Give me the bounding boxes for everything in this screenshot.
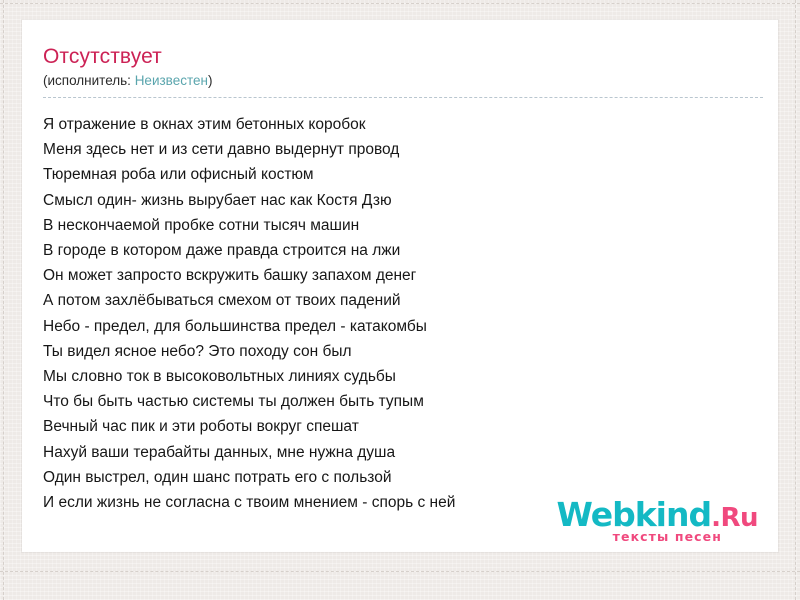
background-dashed-rule-bottom (0, 571, 800, 572)
lyric-line: Он может запросто вскружить башку запахо… (43, 263, 760, 288)
background-dashed-rule-top (0, 3, 800, 4)
lyric-line: Мы словно ток в высоковольтных линиях су… (43, 364, 760, 389)
lyric-line: Меня здесь нет и из сети давно выдернут … (43, 137, 760, 162)
artist-line: (исполнитель: Неизвестен) (43, 72, 763, 98)
webkind-logo[interactable]: Webkind.Ru тексты песен (556, 498, 758, 544)
background-dashed-rule-right (795, 0, 796, 600)
lyric-line: Тюремная роба или офисный костюм (43, 162, 760, 187)
lyric-line: В городе в котором даже правда строится … (43, 238, 760, 263)
lyric-line: Смысл один- жизнь вырубает нас как Костя… (43, 188, 760, 213)
artist-label: (исполнитель: (43, 73, 135, 88)
lyrics-text: Я отражение в окнах этим бетонных коробо… (43, 112, 760, 515)
card-inner: Отсутствует (исполнитель: Неизвестен) Я … (22, 20, 778, 552)
lyrics-content-card: Отсутствует (исполнитель: Неизвестен) Я … (22, 20, 778, 552)
lyric-line: Ты видел ясное небо? Это походу сон был (43, 339, 760, 364)
lyric-line: Я отражение в окнах этим бетонных коробо… (43, 112, 760, 137)
lyric-line: Небо - предел, для большинства предел - … (43, 314, 760, 339)
lyric-line: А потом захлёбываться смехом от твоих па… (43, 288, 760, 313)
song-title: Отсутствует (43, 44, 760, 69)
lyric-line: В нескончаемой пробке сотни тысяч машин (43, 213, 760, 238)
lyric-line: Один выстрел, один шанс потрать его с по… (43, 465, 760, 490)
artist-link[interactable]: Неизвестен (135, 73, 208, 88)
background-dashed-rule-left (3, 0, 4, 600)
lyric-line: Вечный час пик и эти роботы вокруг спеша… (43, 414, 760, 439)
lyric-line: Что бы быть частью системы ты должен быт… (43, 389, 760, 414)
artist-suffix: ) (208, 73, 213, 88)
lyric-line: Нахуй ваши терабайты данных, мне нужна д… (43, 440, 760, 465)
